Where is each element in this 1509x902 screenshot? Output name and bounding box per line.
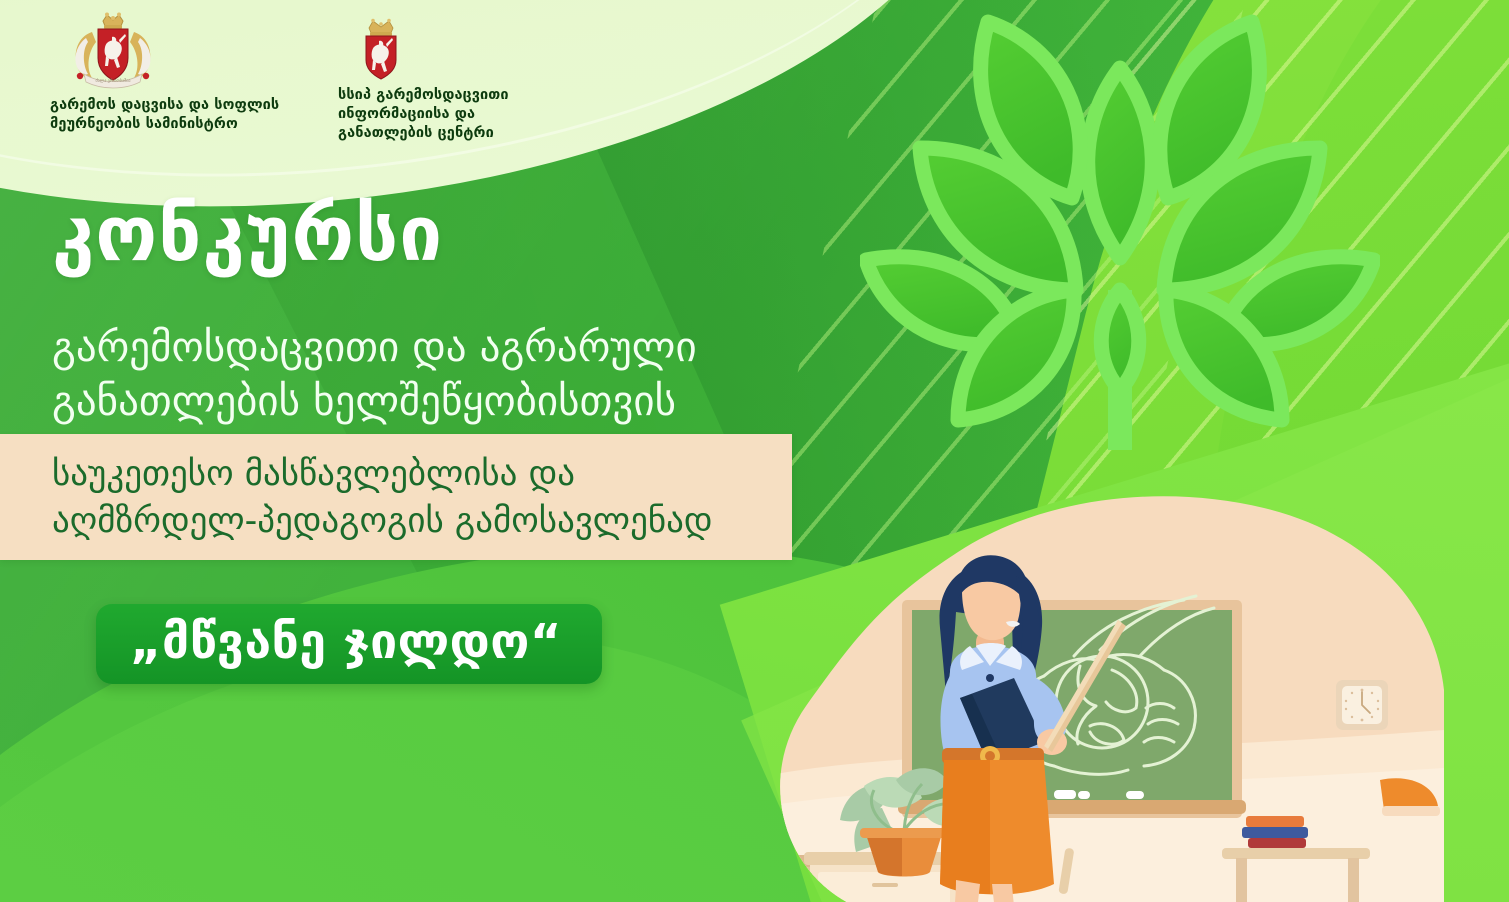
page-title: კონკურსი bbox=[52, 196, 443, 272]
logo-ministry: ძალა ერთობაშია გარემოს დაცვისა და სოფლის… bbox=[50, 12, 279, 134]
stacked-books bbox=[1242, 816, 1308, 848]
page-subtitle: გარემოსდაცვითი და აგრარული განათლების ხე… bbox=[52, 320, 697, 428]
award-name-badge: „მწვანე ჯილდო“ bbox=[96, 604, 602, 684]
svg-text:ძალა ერთობაშია: ძალა ერთობაშია bbox=[95, 78, 130, 83]
georgia-coat-of-arms-icon: ძალა ერთობაშია bbox=[62, 12, 164, 90]
logo-center: სსიპ გარემოსდაცვითი ინფორმაციისა და განა… bbox=[338, 18, 509, 143]
header-logos: ძალა ერთობაშია გარემოს დაცვისა და სოფლის… bbox=[0, 0, 700, 150]
georgia-shield-crest-icon bbox=[352, 18, 410, 80]
logo-center-label: სსიპ გარემოსდაცვითი ინფორმაციისა და განა… bbox=[338, 86, 509, 143]
stylized-leaf-tree-icon bbox=[860, 0, 1380, 450]
logo-ministry-label: გარემოს დაცვისა და სოფლის მეურნეობის სამ… bbox=[50, 96, 279, 134]
highlight-band-text: საუკეთესო მასწავლებლისა და აღმზრდელ-პედა… bbox=[52, 451, 713, 544]
wall-clock-icon bbox=[1336, 680, 1388, 730]
classroom-illustration bbox=[744, 480, 1444, 902]
highlight-band: საუკეთესო მასწავლებლისა და აღმზრდელ-პედა… bbox=[0, 434, 792, 560]
poster-canvas: ძალა ერთობაშია გარემოს დაცვისა და სოფლის… bbox=[0, 0, 1509, 902]
award-name-text: „მწვანე ჯილდო“ bbox=[130, 617, 562, 667]
